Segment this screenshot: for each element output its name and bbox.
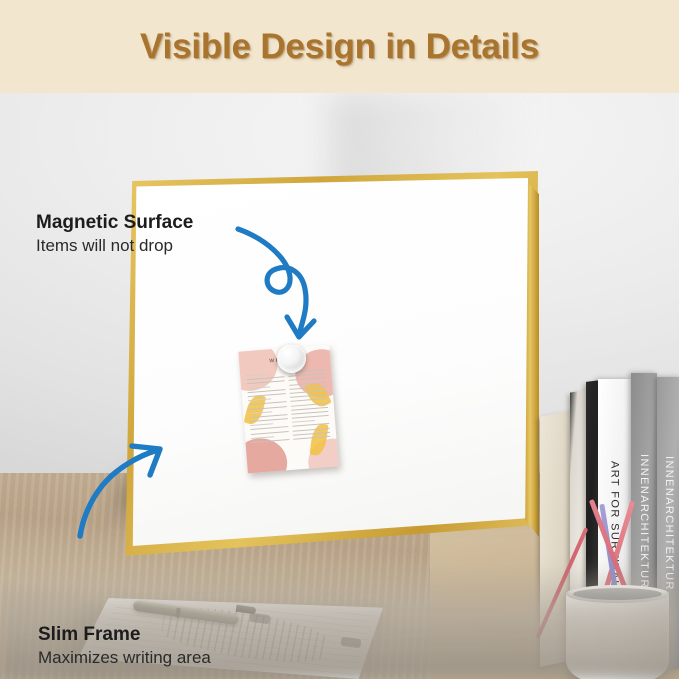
annotation-title: Slim Frame [38, 624, 211, 647]
product-detail-image: Visible Design in Details WEEKLY [0, 0, 679, 679]
annotation-title: Magnetic Surface [36, 212, 193, 235]
product-photo-scene: WEEKLY [0, 93, 679, 679]
curved-up-right-arrow-icon [70, 438, 180, 543]
curved-down-arrow-icon [232, 219, 342, 344]
note-column-left [246, 370, 291, 467]
header-banner: Visible Design in Details [0, 0, 679, 93]
note-column-right [287, 367, 332, 464]
annotation-slim-frame: Slim Frame Maximizes writing area [38, 624, 211, 670]
note-line-columns [246, 367, 332, 467]
round-magnet-icon [277, 344, 306, 373]
page-title: Visible Design in Details [140, 27, 539, 67]
annotation-subtitle: Maximizes writing area [38, 647, 211, 670]
annotation-subtitle: Items will not drop [36, 235, 193, 258]
annotation-magnetic-surface: Magnetic Surface Items will not drop [36, 212, 193, 258]
